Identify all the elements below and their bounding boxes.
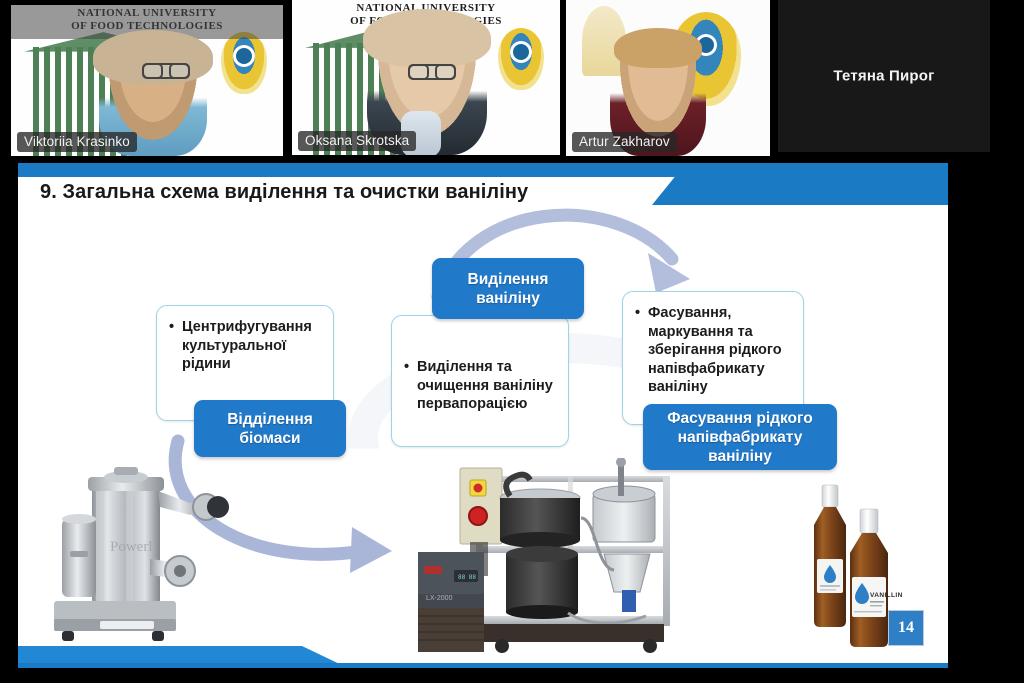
university-crest-icon	[221, 32, 267, 94]
participant-name-label: Тетяна Пирог	[778, 68, 990, 85]
step-box-separation[interactable]: Відділення біомаси	[194, 400, 346, 457]
step-box-isolation[interactable]: Виділення ваніліну	[432, 258, 584, 319]
participant-name-label: Artur Zakharov	[572, 132, 677, 152]
university-crest-icon	[498, 28, 544, 90]
presentation-slide[interactable]: 9. Загальна схема виділення та очистки в…	[18, 163, 948, 668]
participant-name-label: Viktoriia Krasinko	[17, 132, 137, 152]
svg-text:88 88: 88 88	[458, 574, 476, 581]
step-label: Фасування, маркування та зберігання рідк…	[648, 304, 793, 397]
hair-shape	[614, 28, 702, 68]
participant-tile-3[interactable]: Artur Zakharov	[566, 0, 770, 156]
svg-text:VANILLIN: VANILLIN	[870, 592, 903, 599]
participant-name-label: Oksana Skrotska	[298, 131, 416, 151]
hair-shape	[363, 9, 491, 67]
bullet-icon: •	[169, 318, 174, 337]
slide-top-accent-notch	[652, 163, 948, 205]
participant-tile-2[interactable]: NATIONAL UNIVERSITY OF FOOD TECHNOLOGIES…	[292, 0, 560, 155]
participant-tile-1[interactable]: NATIONAL UNIVERSITY OF FOOD TECHNOLOGIES…	[11, 5, 283, 156]
slide-number-badge: 14	[888, 610, 924, 646]
step-box-purification[interactable]: • Виділення та очищення ваніліну первапо…	[391, 315, 569, 447]
step-label: Виділення та очищення ваніліну первапора…	[417, 358, 558, 414]
step-text-wrapper: • Виділення та очищення ваніліну первапо…	[404, 358, 558, 414]
step-text-wrapper: • Центрифугування культуральної рідини	[169, 318, 323, 374]
participant-tile-4[interactable]: Тетяна Пирог	[778, 0, 990, 152]
slide-title: 9. Загальна схема виділення та очистки в…	[40, 181, 528, 204]
slide-bottom-accent-line	[18, 663, 948, 668]
image-pervaporation-rig: 88 88 LX-2000	[418, 458, 683, 658]
bullet-icon: •	[635, 304, 640, 323]
step-text-wrapper: • Фасування, маркування та зберігання рі…	[635, 304, 793, 397]
image-centrifuge-unit: Powerl	[40, 463, 240, 653]
screen: NATIONAL UNIVERSITY OF FOOD TECHNOLOGIES…	[0, 0, 1024, 683]
video-participant-strip: NATIONAL UNIVERSITY OF FOOD TECHNOLOGIES…	[0, 0, 1024, 158]
svg-text:Powerl: Powerl	[110, 539, 153, 555]
glasses-shape	[408, 64, 456, 80]
glasses-shape	[142, 63, 190, 79]
svg-text:LX-2000: LX-2000	[426, 595, 453, 602]
step-label: Центрифугування культуральної рідини	[182, 318, 323, 374]
strip-right-filler	[990, 0, 1024, 158]
bullet-icon: •	[404, 358, 409, 377]
